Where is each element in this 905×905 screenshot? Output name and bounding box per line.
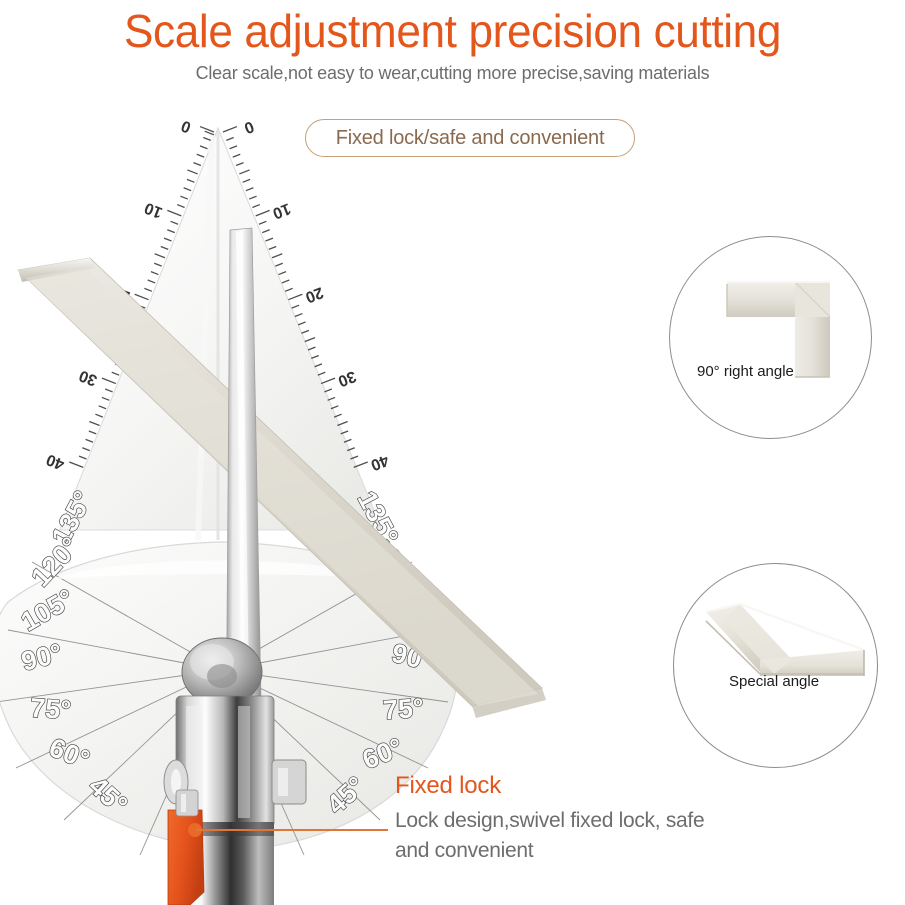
special-angle-bend-image bbox=[674, 564, 877, 767]
leader-line bbox=[196, 829, 388, 831]
feature-badge-label: Fixed lock/safe and convenient bbox=[336, 127, 605, 150]
right-angle-corner-image bbox=[670, 237, 871, 438]
callout-special-angle bbox=[673, 563, 878, 768]
svg-text:40: 40 bbox=[44, 450, 67, 472]
degree-75-left: 75° bbox=[29, 693, 72, 726]
page-title: Scale adjustment precision cutting bbox=[18, 4, 887, 58]
svg-text:10: 10 bbox=[142, 199, 165, 221]
svg-text:20: 20 bbox=[303, 283, 326, 305]
feature-badge: Fixed lock/safe and convenient bbox=[305, 119, 635, 157]
page-subtitle: Clear scale,not easy to wear,cutting mor… bbox=[14, 62, 892, 84]
svg-text:0: 0 bbox=[242, 117, 257, 136]
svg-text:30: 30 bbox=[77, 366, 100, 388]
annotation-title: Fixed lock bbox=[395, 772, 501, 800]
product-infographic: Scale adjustment precision cutting Clear… bbox=[0, 0, 905, 905]
svg-text:40: 40 bbox=[368, 451, 391, 473]
callout-special-angle-label: Special angle bbox=[729, 673, 819, 690]
protractor-illustration: 0 10 20 30 40 bbox=[0, 110, 610, 905]
svg-text:10: 10 bbox=[270, 199, 293, 221]
product-photo-protractor: 0 10 20 30 40 bbox=[0, 110, 610, 905]
callout-right-angle bbox=[669, 236, 872, 439]
svg-text:30: 30 bbox=[335, 367, 358, 389]
degree-75-right: 75° bbox=[382, 693, 425, 726]
callout-right-angle-label: 90° right angle bbox=[697, 363, 794, 380]
svg-text:0: 0 bbox=[179, 116, 194, 135]
annotation-body: Lock design,swivel fixed lock, safe and … bbox=[395, 806, 725, 866]
